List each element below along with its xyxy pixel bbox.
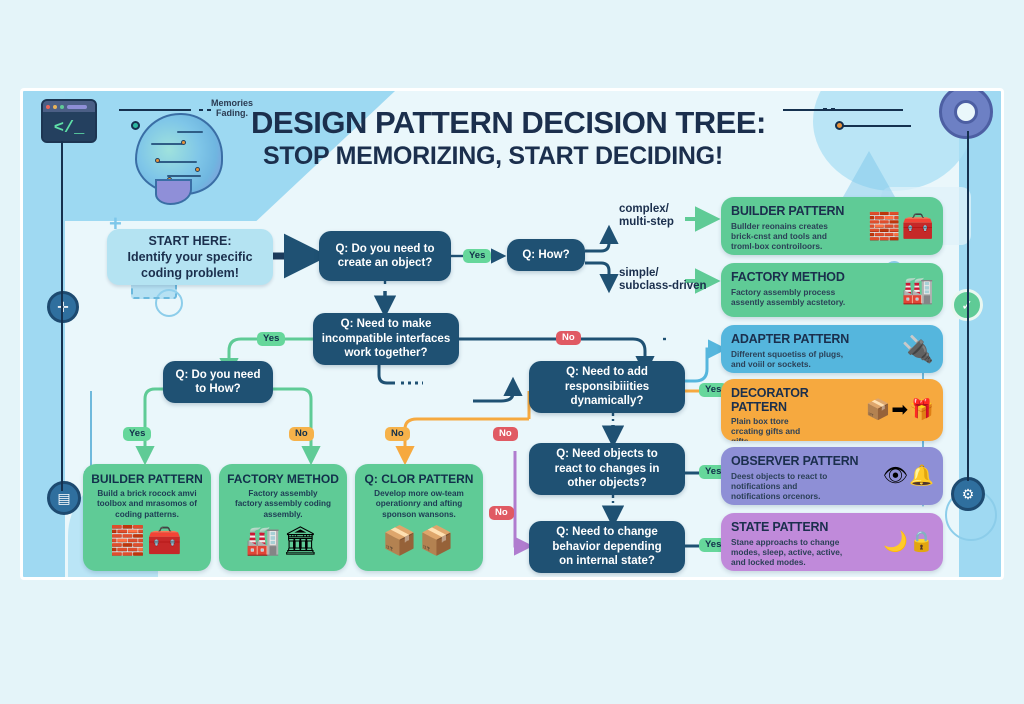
code-window-icon: </_ [41, 99, 97, 143]
title-block: DESIGN PATTERN DECISION TREE: STOP MEMOR… [251, 107, 891, 170]
plug-socket-icon: 🔌 [902, 336, 935, 362]
branch-label-complex: complex/ multi-step [619, 203, 674, 229]
gear-badge-right: ⚙ [951, 477, 985, 511]
card-desc: Develop more ow-team operationry and aft… [363, 489, 475, 520]
bricks-toolbox-icon: 🧱🧰 [868, 213, 935, 239]
adapter-pattern-card[interactable]: ADAPTER PATTERN Different squoetiss of p… [721, 325, 943, 373]
left-rail-badge-top: ✛ [47, 291, 79, 323]
start-here-box[interactable]: START HERE: Identify your specific codin… [107, 229, 273, 285]
card-desc: Stane approachs to change modes, sleep, … [731, 537, 852, 567]
builder-pattern-card[interactable]: BUILDER PATTERN Bullder reonains creates… [721, 197, 943, 255]
label-no-incompatible: No [556, 331, 581, 345]
page-subtitle: STOP MEMORIZING, START DECIDING! [251, 143, 891, 171]
clor-pattern-bottom-card[interactable]: Q: CLOR PATTERN Develop more ow-team ope… [355, 464, 483, 571]
server-icon: ▤ [57, 490, 70, 507]
page-title: DESIGN PATTERN DECISION TREE: [251, 107, 891, 140]
factory-method-card[interactable]: FACTORY METHOD Factory assembly process … [721, 263, 943, 317]
factory-method-bottom-card[interactable]: FACTORY METHOD Factory assembly factory … [219, 464, 347, 571]
gear-icon-right: ⚙ [962, 486, 975, 503]
eye-bell-icon: 👁🔔 [883, 466, 935, 486]
factory-bank-icon: 🏭🏛 [227, 527, 339, 555]
bricks-toolbox-icon: 🧱🧰 [91, 527, 203, 555]
code-glyph: </_ [43, 112, 95, 143]
infographic-canvas: + + − − </_ ✛ ▤ ✓ ⚙ Memories Fading. [20, 88, 1004, 580]
left-rail-line [61, 141, 63, 491]
decorator-pattern-card[interactable]: DECORATOR PATTERN Plain box ttore crcati… [721, 379, 943, 441]
label-yes-incompatible: Yes [257, 332, 285, 346]
label-no-observer: No [489, 506, 514, 520]
question-incompatible-interfaces[interactable]: Q: Need to make incompatible interfaces … [313, 313, 459, 365]
brain-icon [135, 113, 223, 195]
card-title: BUILDER PATTERN [91, 472, 203, 486]
question-change-behavior[interactable]: Q: Need to change behavior depending on … [529, 521, 685, 573]
state-pattern-card[interactable]: STATE PATTERN Stane approachs to change … [721, 513, 943, 571]
right-rail-line [967, 131, 969, 481]
card-desc: Factory assembly process assently assemb… [731, 287, 852, 307]
card-title: FACTORY METHOD [227, 472, 339, 486]
observer-pattern-card[interactable]: OBSERVER PATTERN Deest objects to react … [721, 447, 943, 505]
branch-label-simple: simple/ subclass-driven [619, 267, 707, 293]
label-yes-create-object: Yes [463, 249, 491, 263]
label-no-how-right: No [289, 427, 314, 441]
label-no-clor: No [385, 427, 410, 441]
card-desc: Different squoetiss of plugs, and voiil … [731, 349, 852, 369]
card-title: Q: CLOR PATTERN [363, 472, 475, 486]
question-react-to-changes[interactable]: Q: Need objects to react to changes in o… [529, 443, 685, 495]
factory-icon: 🏭 [902, 277, 935, 303]
question-how[interactable]: Q: How? [507, 239, 585, 271]
left-rail-badge-bottom: ▤ [47, 481, 81, 515]
label-no-responsibilities: No [493, 427, 518, 441]
box-gift-icon: 📦➡🎁 [865, 400, 935, 420]
card-desc: Factory assembly factory assembly coding… [227, 489, 339, 520]
card-desc: Deest objects to react to notifications … [731, 471, 852, 501]
question-add-responsibilities[interactable]: Q: Need to add responsibiiities dynamica… [529, 361, 685, 413]
card-desc: Plain box ttore crcating gifts and gifts… [731, 416, 848, 441]
question-do-you-need-to-how[interactable]: Q: Do you need to How? [163, 361, 273, 403]
boxes-icon: 📦📦 [363, 527, 475, 555]
card-desc: Build a brick rocock amvi toolbox and mr… [91, 489, 203, 520]
card-desc: Bullder reonains creates brick-cnst and … [731, 221, 852, 251]
decorative-dot-left [131, 121, 140, 130]
decorative-dash-1 [119, 109, 191, 111]
label-yes-how-left: Yes [123, 427, 151, 441]
builder-pattern-bottom-card[interactable]: BUILDER PATTERN Build a brick rocock amv… [83, 464, 211, 571]
question-create-object[interactable]: Q: Do you need to create an object? [319, 231, 451, 281]
moon-lock-icon: 🌙🔒 [883, 532, 935, 552]
